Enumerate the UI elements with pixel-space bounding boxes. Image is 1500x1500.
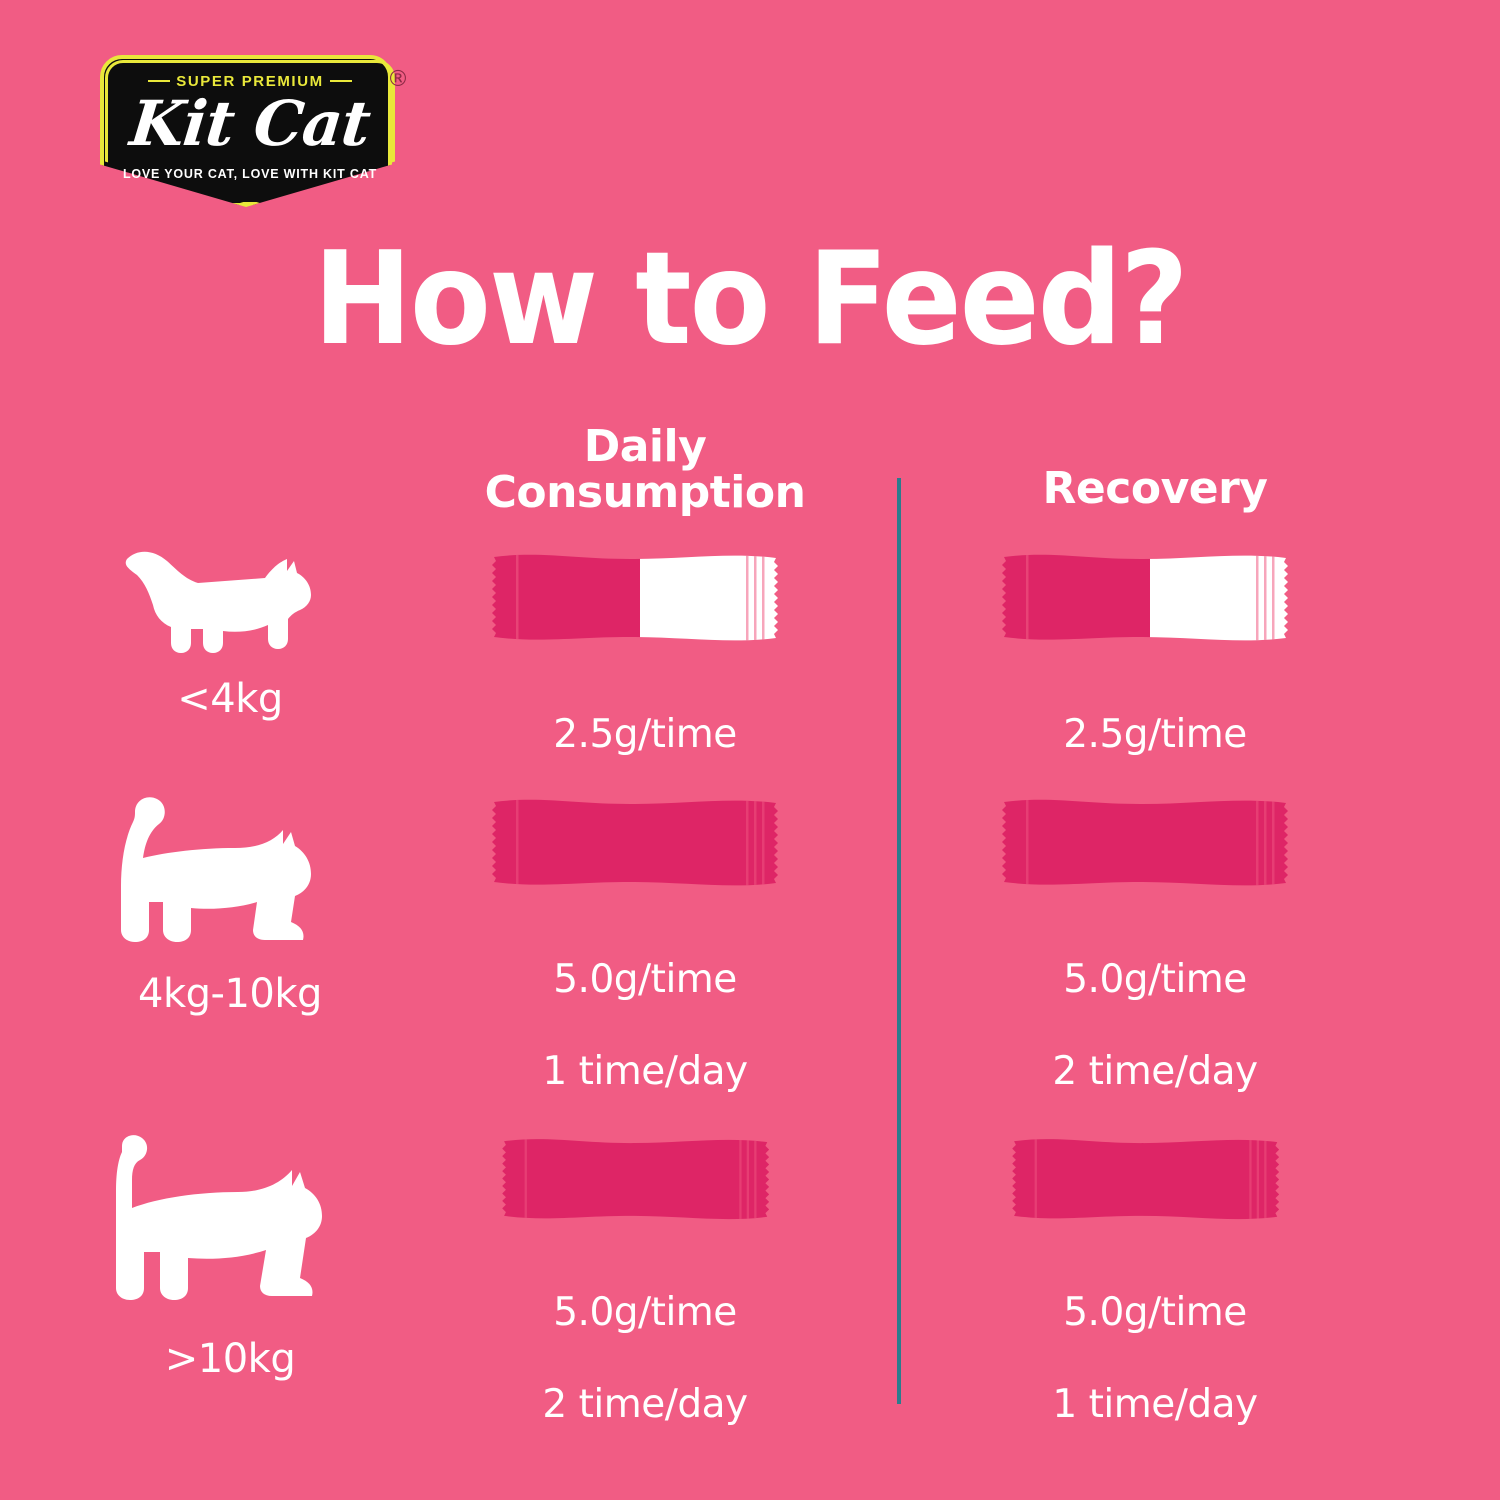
logo-wordmark: Kit Cat (96, 87, 404, 160)
recovery-sachet-cell: 5.0g/time 2 time/day (920, 790, 1390, 1095)
daily-amount: 5.0g/time 2 time/day (410, 1244, 880, 1428)
recovery-frequency-value: 1 time/day (1052, 1382, 1257, 1427)
full-sachet-icon (990, 790, 1320, 895)
daily-sachet-cell: 5.0g/time 2 time/day (410, 1130, 880, 1428)
column-header-daily-consumption: Daily Consumption (420, 424, 870, 516)
recovery-frequency-value: 2 time/day (1052, 1049, 1257, 1094)
full-sachet-icon (990, 1130, 1320, 1228)
column-header-daily-line1: Daily (420, 424, 870, 470)
cat-weight-label: <4kg (60, 676, 400, 722)
logo-rule-right (330, 80, 352, 82)
cat-weight-label: >10kg (60, 1336, 400, 1382)
medium-cat-walking-icon (105, 790, 355, 965)
half-filled-sachet-icon (990, 545, 1320, 650)
recovery-amount-value: 5.0g/time (1063, 1290, 1247, 1335)
logo-rule-left (148, 80, 170, 82)
large-cat-walking-icon (100, 1130, 360, 1330)
recovery-amount: 5.0g/time 1 time/day (920, 1244, 1390, 1428)
daily-sachet-cell: 5.0g/time 1 time/day (410, 790, 880, 1095)
daily-amount-value: 5.0g/time (553, 1290, 737, 1335)
column-header-recovery: Recovery (930, 466, 1380, 512)
recovery-amount-value: 5.0g/time (1063, 957, 1247, 1002)
cat-size-cell: <4kg (60, 545, 400, 722)
brand-logo: SUPER PREMIUM Kit Cat LOVE YOUR CAT, LOV… (100, 55, 400, 210)
kitten-walking-icon (115, 545, 345, 670)
page-title: How to Feed? (60, 236, 1440, 364)
daily-frequency-value: 1 time/day (542, 1049, 747, 1094)
recovery-amount: 5.0g/time 2 time/day (920, 911, 1390, 1095)
cat-size-cell: >10kg (60, 1130, 400, 1382)
column-divider (897, 478, 901, 1404)
half-filled-sachet-icon (480, 545, 810, 650)
full-sachet-icon (480, 1130, 810, 1228)
column-header-daily-line2: Consumption (420, 470, 870, 516)
registered-trademark-icon: ® (387, 67, 409, 92)
logo-tagline: LOVE YOUR CAT, LOVE WITH KIT CAT (100, 167, 400, 181)
full-sachet-icon (480, 790, 810, 895)
cat-size-cell: 4kg-10kg (60, 790, 400, 1017)
recovery-amount-value: 2.5g/time (1063, 712, 1247, 757)
daily-amount: 5.0g/time 1 time/day (410, 911, 880, 1095)
cat-weight-label: 4kg-10kg (60, 971, 400, 1017)
daily-amount-value: 2.5g/time (553, 712, 737, 757)
daily-frequency-value: 2 time/day (542, 1382, 747, 1427)
recovery-sachet-cell: 5.0g/time 1 time/day (920, 1130, 1390, 1428)
daily-amount-value: 5.0g/time (553, 957, 737, 1002)
